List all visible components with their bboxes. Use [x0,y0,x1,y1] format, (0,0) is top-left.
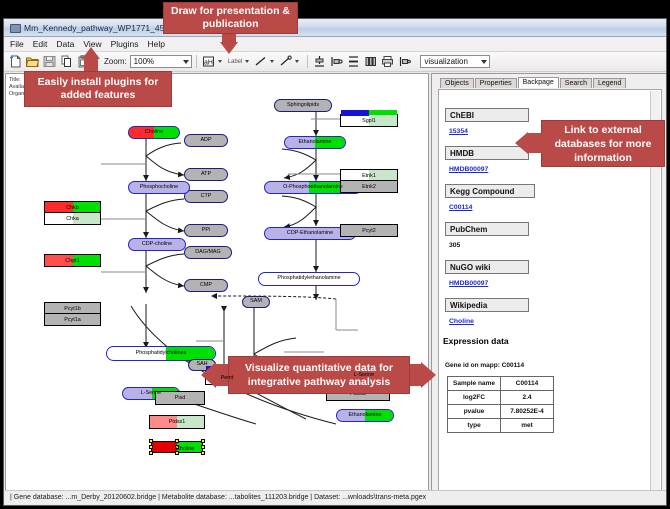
pathway-canvas[interactable]: Title: Availa Organi [5,73,429,501]
zoom-combo[interactable]: 100% [130,55,192,68]
cell-value: 7.80252E-4 [501,405,554,419]
node-label: Chkb [66,205,79,211]
gene-ptdss1[interactable]: Ptdss1 [149,415,205,429]
chevron-down-icon [481,60,487,64]
cell-value: met [501,419,554,433]
selected-node-group[interactable]: Choline [149,439,205,455]
table-row: type met [448,419,554,433]
tab-properties[interactable]: Properties [475,78,517,88]
resize-handle[interactable] [149,445,153,449]
cell-value: 2.4 [501,391,554,405]
tab-backpage[interactable]: Backpage [518,77,559,88]
align-rows-icon[interactable] [346,54,361,69]
toolbar-divider [307,55,308,68]
callout-links-arrow-head [515,132,528,154]
chevron-down-icon[interactable] [218,60,222,63]
section-pubchem-value: 305 [449,242,460,249]
interaction-tool-icon[interactable] [278,54,293,69]
svg-text:aH: aH [204,60,213,67]
section-wikipedia-heading: Wikipedia [445,298,529,312]
metabolite-phosphatidylethanolamine[interactable]: Phosphatidylethanolamine [258,272,360,286]
node-label: O-Phosphoethanolamine [283,185,343,190]
data-overlay-blue [341,110,369,116]
gene-etnk2[interactable]: Etnk2 [340,180,398,193]
cell-key: type [448,419,501,433]
node-label: Sgpl1 [362,118,376,124]
gene-pcyt2[interactable]: Pcyt2 [340,224,398,237]
tab-search[interactable]: Search [560,78,592,88]
node-label: Choline [175,445,179,449]
section-hmdb-link[interactable]: HMDB00097 [449,166,488,173]
metabolite-dag-mag[interactable]: DAG/MAG [184,246,232,259]
status-bar: | Gene database: ...m_Derby_20120602.bri… [5,490,667,504]
node-label: Ptdss1 [169,419,185,425]
open-folder-icon[interactable] [25,54,40,69]
gene-pcyt1a[interactable]: Pcyt1a [44,313,101,326]
cell-key: Sample name [448,377,501,391]
node-label: L-Serine [354,373,374,378]
callout-quant-arrow-head-right [421,362,436,388]
metabolite-adp[interactable]: ADP [184,134,228,147]
resize-handle[interactable] [201,445,205,449]
node-label: Etnk1 [362,173,376,179]
section-nugo-heading: NuGO wiki [445,260,529,274]
group-icon[interactable] [397,54,412,69]
expression-table: Sample name C00114 log2FC 2.4 pvalue 7.8… [447,376,554,433]
section-chebi-link[interactable]: 15354 [449,128,468,135]
node-label: Chka [66,216,79,222]
metabolite-phosphocholine[interactable]: Phosphocholine [128,181,190,194]
gene-chka[interactable]: Chka [44,212,101,225]
title-bar: Mm_Kennedy_pathway_WP1771_45176.gpml [4,19,666,37]
metabolite-cdp-choline[interactable]: CDP-choline [128,238,186,251]
chevron-down-icon [183,60,189,64]
section-nugo-link[interactable]: HMDB00097 [449,280,488,287]
section-pubchem-heading: PubChem [445,222,529,236]
node-label: Ethanolamine [299,140,332,145]
callout-quant-arrow-head-left [201,362,216,388]
section-kegg-link[interactable]: C00114 [449,204,472,211]
table-row: Sample name C00114 [448,377,554,391]
toolbar: Zoom: 100% aH Label [4,52,666,72]
zoom-label: Zoom: [104,57,127,66]
align-top-icon[interactable] [312,54,327,69]
label-tool-icon[interactable]: Label [228,59,243,65]
tab-objects[interactable]: Objects [440,78,474,88]
resize-handle[interactable] [201,451,205,455]
chevron-down-icon[interactable] [245,60,249,63]
node-label: L-Serine [141,391,161,396]
node-label: Phosphatidylcholines [136,351,187,356]
callout-links: Link to external databases for more info… [541,120,665,167]
toolbar-divider [196,55,197,68]
menu-item-plugins[interactable]: Plugins [111,39,139,49]
copy-icon[interactable] [59,54,74,69]
callout-plugins: Easily install plugins for added feature… [24,71,172,107]
cell-key: log2FC [448,391,501,405]
metabolite-sphingolipids[interactable]: Sphingolipids [274,99,332,112]
node-label: Choline [145,130,163,135]
align-columns-icon[interactable] [363,54,378,69]
node-label: Chpt1 [65,258,79,264]
text-label-icon[interactable]: aH [201,54,216,69]
metabolite-ethanolamine-bottom[interactable]: Ethanolamine [336,409,394,422]
new-document-icon[interactable] [8,54,23,69]
section-kegg-heading: Kegg Compound [445,184,535,198]
menu-item-help[interactable]: Help [148,39,165,49]
gene-pisd[interactable]: Pisd [155,391,205,405]
metabolite-ethanolamine-top[interactable]: Ethanolamine [284,136,346,149]
table-row: pvalue 7.80252E-4 [448,405,554,419]
side-panel-tabs: Objects Properties Backpage Search Legen… [440,75,627,88]
section-wikipedia-link[interactable]: Choline [449,318,474,325]
callout-quantitative: Visualize quantitative data for integrat… [228,356,410,394]
screenshot-root: Mm_Kennedy_pathway_WP1771_45176.gpml Fil… [0,0,670,509]
pathway-app-icon [9,22,20,33]
callout-plugins-arrow-shaft [84,58,98,71]
print-icon[interactable] [380,54,395,69]
node-label: Ethanolamine [349,413,382,418]
table-row: log2FC 2.4 [448,391,554,405]
line-tool-icon[interactable] [253,54,268,69]
gene-chpt1[interactable]: Chpt1 [44,254,101,267]
resize-handle[interactable] [201,439,205,443]
metabolite-ctp[interactable]: CTP [184,190,228,203]
gene-id-label: Gene id on mapp: C00114 [445,362,524,369]
visualization-combo[interactable]: visualization [420,55,490,68]
chevron-down-icon[interactable] [270,60,274,63]
gene-sgpl1[interactable]: Sgpl1 [340,114,398,127]
menu-item-file[interactable]: File [10,39,24,49]
status-text: | Gene database: ...m_Derby_20120602.bri… [5,494,426,501]
cell-key: pvalue [448,405,501,419]
save-disk-icon [42,54,57,69]
metabolite-atp[interactable]: ATP [184,168,228,181]
menu-item-data[interactable]: Data [56,39,74,49]
callout-plugins-arrow-head [82,47,100,59]
chevron-down-icon[interactable] [295,60,299,63]
metabolite-choline-top[interactable]: Choline [128,126,180,139]
cell-value: C00114 [501,377,554,391]
visualization-value: visualization [424,57,468,66]
callout-draw: Draw for presentation & publication [163,2,298,34]
resize-handle[interactable] [149,439,153,443]
resize-handle[interactable] [175,439,179,443]
resize-handle[interactable] [149,451,153,455]
align-left-icon[interactable] [329,54,344,69]
metabolite-ppi[interactable]: PPi [184,224,228,237]
section-chebi-heading: ChEBI [445,108,529,122]
callout-draw-arrow-head [220,42,238,54]
metabolite-cmp[interactable]: CMP [184,279,228,292]
node-label: Pemt [221,375,234,381]
expression-data-heading: Expression data [443,336,509,346]
menu-bar: File Edit Data View Plugins Help [4,37,666,52]
tab-legend[interactable]: Legend [593,78,626,88]
menu-item-edit[interactable]: Edit [33,39,48,49]
zoom-value: 100% [134,57,154,66]
callout-links-arrow-shaft [528,133,542,153]
metabolite-sam[interactable]: SAM [242,296,270,308]
